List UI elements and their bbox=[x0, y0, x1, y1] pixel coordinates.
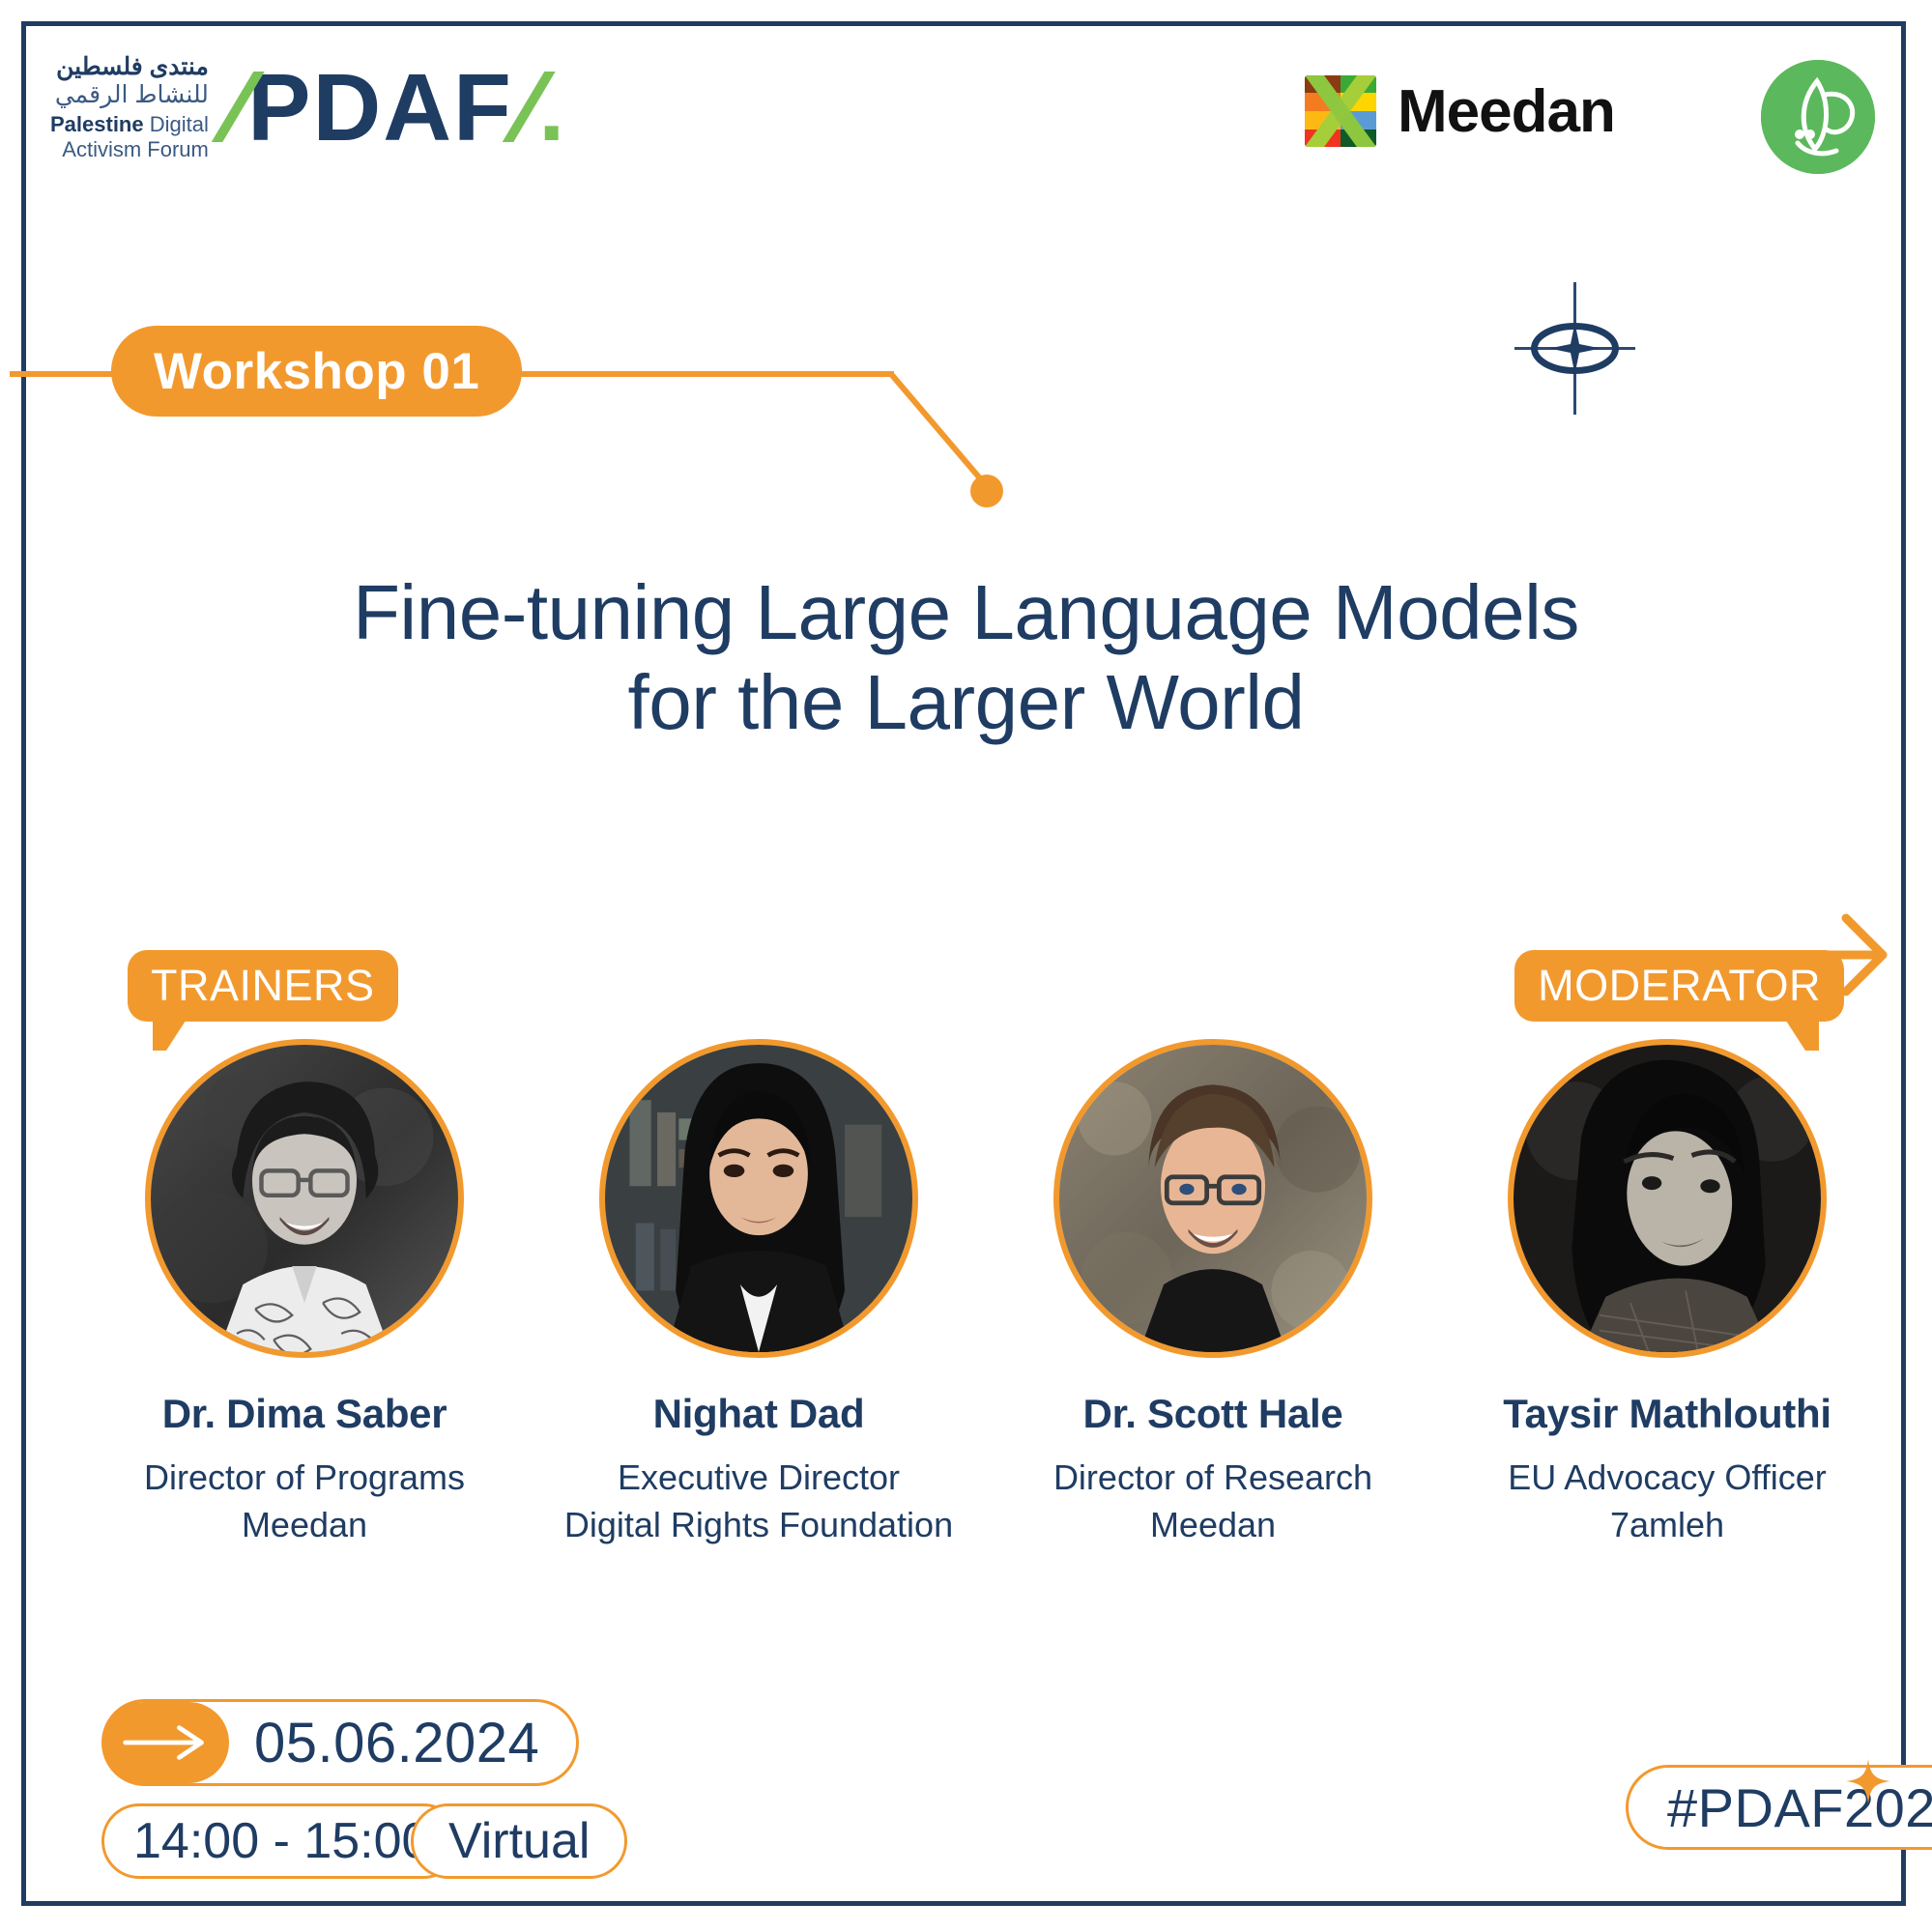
speakers-row: TRAINERS bbox=[0, 1000, 1932, 1735]
title-line-1: Fine-tuning Large Language Models bbox=[353, 569, 1579, 655]
speaker-role: Executive Director bbox=[532, 1455, 986, 1502]
time-pill[interactable]: 14:00 - 15:00 bbox=[101, 1803, 461, 1879]
page-title: Fine-tuning Large Language Models for th… bbox=[242, 568, 1691, 748]
workshop-badge-label: Workshop 01 bbox=[154, 342, 479, 401]
avatar bbox=[599, 1039, 918, 1358]
date-pill[interactable]: 05.06.2024 bbox=[101, 1699, 579, 1786]
moderator-role-badge: MODERATOR bbox=[1514, 950, 1844, 1022]
speaker-org: Meedan bbox=[77, 1502, 532, 1549]
speaker-name: Dr. Scott Hale bbox=[986, 1391, 1440, 1437]
venue-pill[interactable]: Virtual bbox=[411, 1803, 627, 1879]
speaker-role: Director of Research bbox=[986, 1455, 1440, 1502]
venue-value: Virtual bbox=[448, 1812, 590, 1870]
workshop-connector-line bbox=[0, 0, 1932, 541]
speaker-role: EU Advocacy Officer bbox=[1440, 1455, 1894, 1502]
speaker-role: Director of Programs bbox=[77, 1455, 532, 1502]
time-value: 14:00 - 15:00 bbox=[133, 1812, 429, 1870]
speaker-card: TRAINERS bbox=[77, 1000, 532, 1549]
trainers-role-badge: TRAINERS bbox=[128, 950, 398, 1022]
speaker-name: Dr. Dima Saber bbox=[77, 1391, 532, 1437]
speaker-org: 7amleh bbox=[1440, 1502, 1894, 1549]
speaker-org: Digital Rights Foundation bbox=[532, 1502, 986, 1549]
speaker-name: Nighat Dad bbox=[532, 1391, 986, 1437]
speaker-card: MODERATOR bbox=[1440, 1000, 1894, 1549]
speaker-card: Dr. Scott Hale Director of Research Meed… bbox=[986, 1000, 1440, 1549]
sparkle-star-icon bbox=[1844, 1757, 1892, 1805]
speaker-card: Nighat Dad Executive Director Digital Ri… bbox=[532, 1000, 986, 1549]
title-line-2: for the Larger World bbox=[242, 658, 1691, 748]
badge-tail bbox=[1784, 1018, 1819, 1051]
date-arrow-icon bbox=[103, 1702, 229, 1783]
avatar bbox=[145, 1039, 464, 1358]
badge-tail bbox=[153, 1018, 187, 1051]
poster-canvas: منتدى فلسطين للنشاط الرقمي Palestine Dig… bbox=[0, 0, 1932, 1932]
speaker-name: Taysir Mathlouthi bbox=[1440, 1391, 1894, 1437]
date-value: 05.06.2024 bbox=[229, 1711, 576, 1775]
avatar bbox=[1508, 1039, 1827, 1358]
moderator-role-badge-label: MODERATOR bbox=[1538, 961, 1821, 1011]
avatar bbox=[1053, 1039, 1372, 1358]
workshop-badge[interactable]: Workshop 01 bbox=[111, 326, 522, 417]
trainers-role-badge-label: TRAINERS bbox=[151, 961, 375, 1011]
speaker-org: Meedan bbox=[986, 1502, 1440, 1549]
